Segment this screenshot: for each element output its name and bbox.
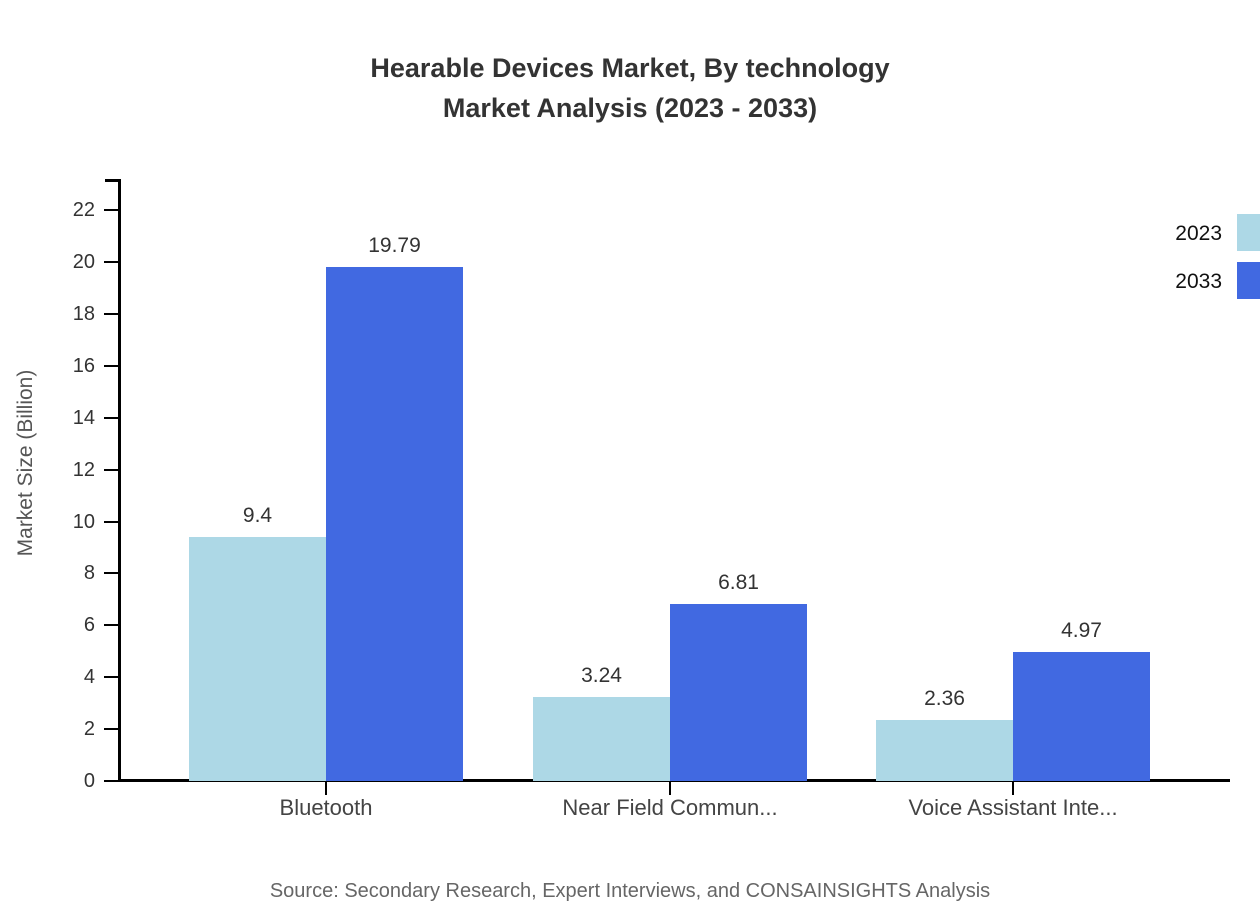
y-tick-label: 22 [35,200,95,220]
bar-value-label: 3.24 [513,665,690,686]
y-tick-mark [104,624,119,626]
y-tick-label: 20 [35,252,95,272]
legend-swatch-2023 [1237,214,1260,251]
x-tick-mark [325,781,327,795]
y-tick-mark [104,261,119,263]
y-tick-mark [104,469,119,471]
bar-value-label: 9.4 [169,505,346,526]
x-category-label-0: Bluetooth [156,795,496,821]
chart-container: Hearable Devices Market, By technology M… [0,0,1260,920]
legend-label-2023: 2023 [1100,223,1222,244]
y-tick-mark [104,365,119,367]
y-tick-label: 18 [35,304,95,324]
bar-2023-0[interactable] [189,537,326,781]
bar-value-label: 2.36 [856,688,1033,709]
x-tick-mark [1012,781,1014,795]
bar-2023-2[interactable] [876,720,1013,781]
chart-title: Hearable Devices Market, By technology M… [0,48,1260,128]
y-tick-label: 0 [35,771,95,791]
chart-title-line-2: Market Analysis (2023 - 2033) [0,88,1260,128]
source-note: Source: Secondary Research, Expert Inter… [0,878,1260,904]
y-tick-mark [104,521,119,523]
y-tick-label: 8 [35,563,95,583]
x-tick-mark [669,781,671,795]
y-tick-mark [104,572,119,574]
y-tick-mark [104,780,119,782]
y-axis-spine [118,179,121,782]
y-tick-label: 6 [35,615,95,635]
y-tick-mark [104,209,119,211]
y-tick-label: 4 [35,667,95,687]
legend-label-2033: 2033 [1100,271,1222,292]
chart-title-line-1: Hearable Devices Market, By technology [0,48,1260,88]
y-tick-label: 10 [35,512,95,532]
y-tick-label: 14 [35,408,95,428]
y-tick-mark [104,676,119,678]
bar-value-label: 6.81 [650,572,827,593]
legend-item-2023[interactable]: 2023 [1100,213,1260,253]
legend-swatch-2033 [1237,262,1260,299]
y-tick-label: 16 [35,356,95,376]
bar-value-label: 4.97 [993,620,1170,641]
bar-2033-2[interactable] [1013,652,1150,781]
y-tick-mark [104,313,119,315]
legend-item-2033[interactable]: 2033 [1100,261,1260,301]
chart-legend: 2023 2033 [1100,213,1260,303]
y-tick-label: 12 [35,460,95,480]
bar-2033-1[interactable] [670,604,807,781]
y-tick-mark [104,728,119,730]
bar-2023-1[interactable] [533,697,670,781]
y-tick-label: 2 [35,719,95,739]
bar-2033-0[interactable] [326,267,463,781]
y-tick-mark [104,417,119,419]
x-category-label-2: Voice Assistant Inte... [843,795,1183,821]
bar-value-label: 19.79 [306,235,483,256]
x-category-label-1: Near Field Commun... [500,795,840,821]
